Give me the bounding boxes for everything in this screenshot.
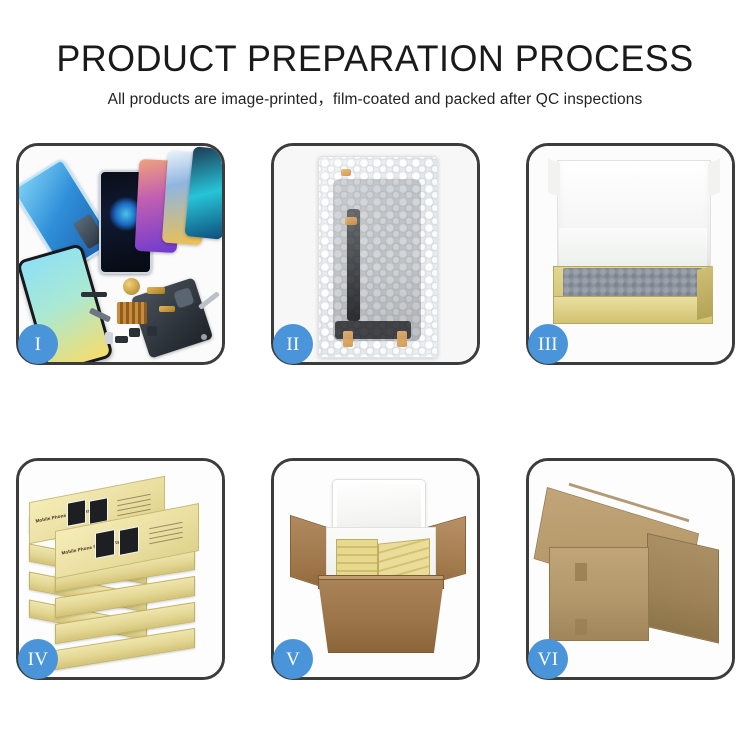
antenna-strip-icon <box>81 292 107 297</box>
process-step-panel-4[interactable]: Mobile Phone Spare Parts Mobile Phone Sp… <box>16 458 225 680</box>
screw-set-icon <box>159 306 175 312</box>
process-step-panel-6[interactable]: VI <box>526 458 735 680</box>
page-header: PRODUCT PREPARATION PROCESS All products… <box>0 36 750 111</box>
step-badge-3: III <box>528 324 568 364</box>
logic-board-icon <box>117 302 147 324</box>
step-badge-2-label: II <box>286 335 299 354</box>
gold-flex-connector-icon <box>147 287 165 294</box>
printed-screen-front-1 <box>95 529 115 559</box>
foam-sheet-icon <box>559 228 707 270</box>
speaker-component-icon <box>123 278 140 295</box>
tape-mark-mid-icon <box>345 217 357 225</box>
sealed-carton-icon <box>547 487 723 653</box>
tape-mark-bottom-right-icon <box>397 331 407 347</box>
step-badge-3-label: III <box>538 335 558 354</box>
printed-screen-front-2 <box>119 526 139 556</box>
printed-screen-back-1 <box>67 499 86 527</box>
screen-flex-cable-icon <box>347 209 360 321</box>
sim-tray-icon <box>105 332 113 344</box>
process-step-grid: I II <box>16 143 735 682</box>
retail-box-stack-icon: Mobile Phone Spare Parts Mobile Phone Sp… <box>25 469 222 669</box>
process-step-panel-3[interactable]: III <box>526 143 735 365</box>
step-badge-2: II <box>273 324 313 364</box>
process-step-panel-2[interactable]: II <box>271 143 480 365</box>
tape-mark-bottom-left-icon <box>343 331 353 347</box>
carton-tape-upper <box>575 563 587 581</box>
carton-tape-lower <box>575 619 587 635</box>
step-badge-1-label: I <box>35 335 42 354</box>
step-badge-4: IV <box>18 639 58 679</box>
screw-icon <box>201 334 207 340</box>
step-badge-5-label: V <box>286 650 300 669</box>
step-badge-6: VI <box>528 639 568 679</box>
bubble-wrap-bag-icon <box>318 156 438 358</box>
step-badge-6-label: VI <box>538 650 559 669</box>
tape-mark-top-icon <box>341 169 351 176</box>
vibration-motor-icon <box>115 336 128 343</box>
carton-front-face <box>549 547 649 641</box>
kraft-box-side-icon <box>697 266 713 320</box>
step-badge-5: V <box>273 639 313 679</box>
kraft-box-front-icon <box>553 296 713 324</box>
product-preparation-process-page: PRODUCT PREPARATION PROCESS All products… <box>0 0 750 750</box>
step-badge-4-label: IV <box>28 650 49 669</box>
small-chip-icon <box>129 328 140 337</box>
bubble-wrap-fill-icon <box>563 268 703 298</box>
carton-right-face <box>647 533 719 644</box>
camera-module-icon <box>147 326 157 336</box>
process-step-panel-1[interactable]: I <box>16 143 225 365</box>
carton-front-icon <box>318 579 444 653</box>
page-title: PRODUCT PREPARATION PROCESS <box>11 36 739 82</box>
step-badge-1: I <box>18 324 58 364</box>
process-step-panel-5[interactable]: V <box>271 458 480 680</box>
page-subtitle: All products are image-printed，film-coat… <box>0 89 750 111</box>
